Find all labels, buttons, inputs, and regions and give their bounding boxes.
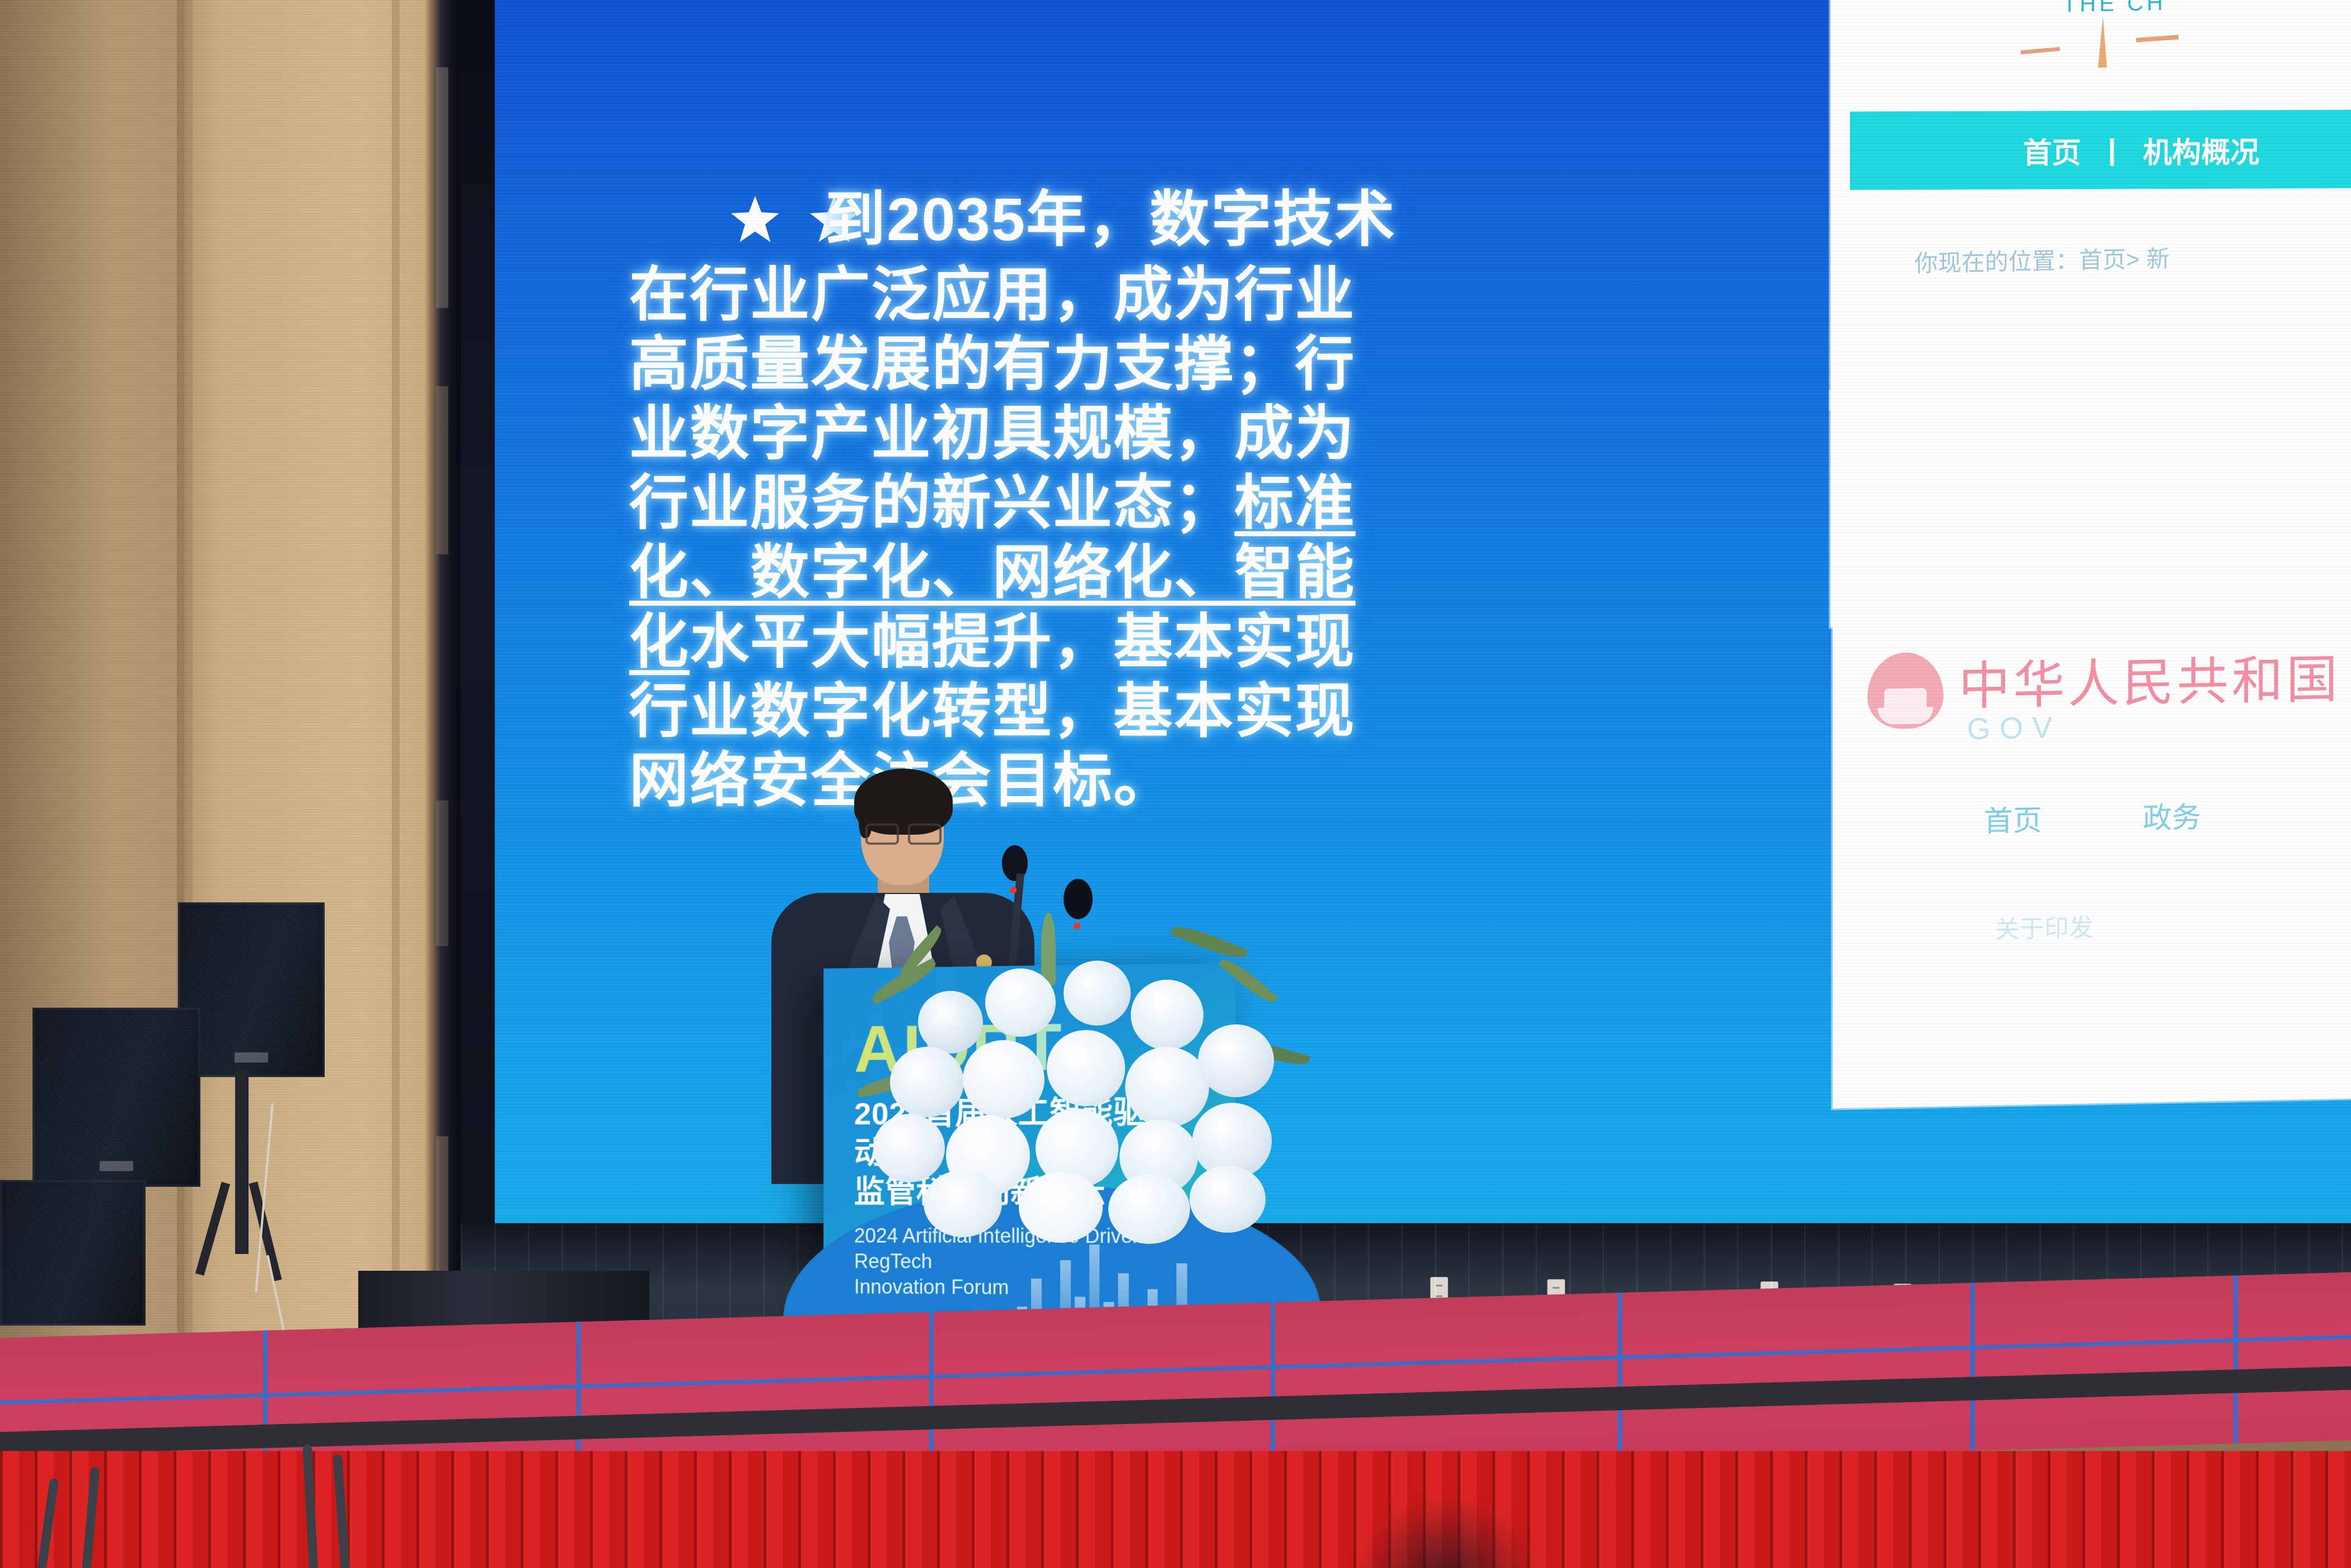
nav-item-home: 首页 [2023,129,2081,171]
pa-speaker-lower [0,1180,146,1326]
nav-item-overview: 机构概况 [2143,128,2259,171]
slide-line: 行业数字化转型，基本实现 [629,677,1355,746]
website-logo-icon [1998,0,2345,78]
slide-body: 在行业广泛应用，成为行业 高质量发展的有力支撑；行 业数字产业初具规模，成为 行… [629,260,1355,816]
slide-line: 业数字产业初具规模，成为 [629,399,1355,469]
website-nav-bar: 首页 | 机构概况 [1850,110,2351,190]
dark-wall-strip [461,0,495,1360]
prc-national-emblem-icon [1867,652,1943,729]
eyeglasses-icon [865,823,942,840]
slide-line-emphasis: 化、数字化、网络化、智能 [629,538,1355,607]
star-icon [731,196,779,244]
slide-line: 高质量发展的有力支撑；行 [629,330,1355,399]
website-screenshot-panel: THE CH 首页 | 机构概况 你现在的位置：首页> 新 [1830,0,2351,409]
stage-stairs [17,1360,375,1562]
doc-nav-item-affairs: 政务 [2143,794,2201,837]
forum-title-en-line2: Innovation Forum [854,1274,1167,1301]
slide-title: 到2035年，数字技术 [825,171,1396,258]
document-subtitle: GOV [1967,710,2062,746]
speaker-stand [235,1069,249,1254]
blue-text-panel: 中法 [1830,381,2351,627]
document-title: 中华人民共和国 [1959,638,2341,719]
slide-line: 化水平大幅提升，基本实现 [629,607,1355,677]
website-logo-english: THE CH [2063,0,2166,17]
blue-panel-text: 中法 [2348,442,2351,506]
document-note: 关于印发 [1995,907,2094,945]
pa-speaker-middle [32,1008,200,1187]
doc-nav-item-home: 首页 [1984,797,2042,840]
government-document-panel: 中华人民共和国 GOV 首页 政务 关于印发 [1833,605,2351,1108]
wall-recess-gap [424,0,461,1360]
slide-line: 行业服务的新兴业态；标准 [629,469,1355,538]
audience-head-silhouette [1355,1499,1539,1568]
website-breadcrumb: 你现在的位置：首页> 新 [1914,240,2170,279]
flower-arrangement [856,907,1282,1220]
conference-stage-photo: 到2035年，数字技术 在行业广泛应用，成为行业 高质量发展的有力支撑；行 业数… [0,0,2351,1568]
nav-divider: | [2108,133,2116,167]
slide-line: 在行业广泛应用，成为行业 [629,260,1355,330]
document-nav: 首页 政务 [1984,794,2201,840]
